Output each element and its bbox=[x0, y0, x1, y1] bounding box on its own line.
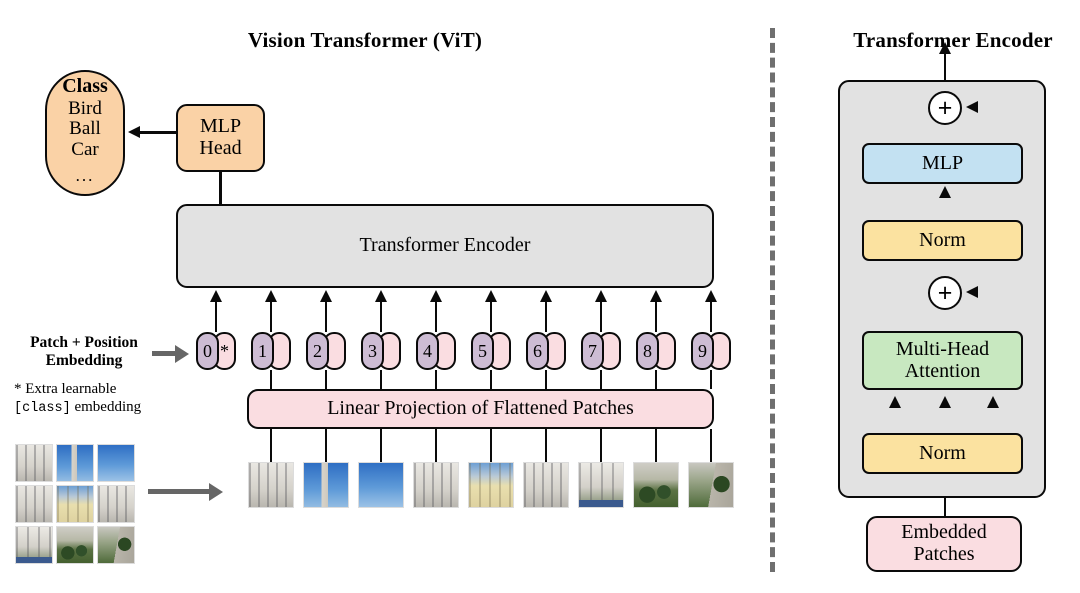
embedding-token: 3 bbox=[361, 332, 401, 370]
embedding-token: 5 bbox=[471, 332, 511, 370]
flattened-patch bbox=[523, 462, 569, 508]
patch-to-projection-line bbox=[325, 429, 328, 462]
position-embedding-token: 5 bbox=[471, 332, 494, 370]
flattened-patch bbox=[358, 462, 404, 508]
embedded-patches-line-2: Patches bbox=[913, 544, 974, 566]
patch-to-projection-line bbox=[490, 429, 493, 462]
token-to-encoder-line bbox=[435, 300, 438, 332]
projection-to-token-line bbox=[490, 370, 493, 389]
plus-symbol: + bbox=[938, 96, 953, 121]
patch-to-projection-line bbox=[435, 429, 438, 462]
mlp-head-line-2: Head bbox=[199, 138, 241, 160]
patch-to-projection-line bbox=[655, 429, 658, 462]
token-to-encoder-arrowhead bbox=[210, 290, 222, 302]
position-embedding-token: 4 bbox=[416, 332, 439, 370]
flattened-patch bbox=[413, 462, 459, 508]
class-item-ball: Ball bbox=[69, 119, 101, 140]
embedding-token: 8 bbox=[636, 332, 676, 370]
norm-bottom-label: Norm bbox=[919, 443, 966, 465]
source-patch bbox=[15, 444, 53, 482]
attention-line-2: Attention bbox=[905, 361, 981, 383]
source-patch bbox=[97, 526, 135, 564]
source-patch bbox=[97, 485, 135, 523]
class-output-pill: Class Bird Ball Car ... bbox=[45, 70, 125, 196]
embedding-token: 1 bbox=[251, 332, 291, 370]
token-to-encoder-arrowhead bbox=[705, 290, 717, 302]
right-panel-title: Transformer Encoder bbox=[828, 28, 1078, 53]
token-to-encoder-arrowhead bbox=[595, 290, 607, 302]
residual-mid-arrowhead bbox=[966, 286, 978, 298]
qkv-arrowhead-v bbox=[987, 396, 999, 408]
token-to-encoder-line bbox=[545, 300, 548, 332]
mlp-head-box: MLP Head bbox=[176, 104, 265, 172]
source-patch bbox=[15, 485, 53, 523]
flattened-patch bbox=[578, 462, 624, 508]
qkv-arrowhead-k bbox=[939, 396, 951, 408]
position-embedding-token: 6 bbox=[526, 332, 549, 370]
mlp-head-stem bbox=[219, 171, 222, 206]
position-embedding-token: 0 bbox=[196, 332, 219, 370]
position-embedding-token: 7 bbox=[581, 332, 604, 370]
projection-to-token-line bbox=[600, 370, 603, 389]
embedding-token: 9 bbox=[691, 332, 731, 370]
embedding-label-line-1: Patch + Position bbox=[8, 334, 160, 352]
token-to-encoder-arrowhead bbox=[485, 290, 497, 302]
embedding-token: 4 bbox=[416, 332, 456, 370]
transformer-encoder-block: Transformer Encoder bbox=[176, 204, 714, 288]
embedding-label-line-2: Embedding bbox=[8, 352, 160, 370]
token-to-encoder-line bbox=[380, 300, 383, 332]
position-embedding-token: 2 bbox=[306, 332, 329, 370]
position-embedding-token: 8 bbox=[636, 332, 659, 370]
qkv-arrowhead-q bbox=[889, 396, 901, 408]
source-image-grid bbox=[15, 444, 137, 566]
embedding-pointer-arrow bbox=[152, 351, 176, 356]
patch-to-projection-line bbox=[270, 429, 273, 462]
embedded-patches-block: Embedded Patches bbox=[866, 516, 1022, 572]
embedding-token: 6 bbox=[526, 332, 566, 370]
token-to-encoder-arrowhead bbox=[320, 290, 332, 302]
transformer-encoder-label: Transformer Encoder bbox=[360, 235, 531, 257]
token-to-encoder-arrowhead bbox=[375, 290, 387, 302]
token-to-encoder-line bbox=[710, 300, 713, 332]
token-to-encoder-line bbox=[325, 300, 328, 332]
token-to-encoder-line bbox=[600, 300, 603, 332]
token-to-encoder-arrowhead bbox=[430, 290, 442, 302]
multi-head-attention-block: Multi-Head Attention bbox=[862, 331, 1023, 390]
flattened-patch bbox=[248, 462, 294, 508]
projection-to-token-line bbox=[325, 370, 328, 389]
embedding-token: *0 bbox=[196, 332, 236, 370]
class-ellipsis: ... bbox=[76, 167, 95, 185]
class-label: Class bbox=[62, 76, 108, 98]
mlp-label: MLP bbox=[922, 153, 963, 175]
linear-projection-label: Linear Projection of Flattened Patches bbox=[327, 398, 634, 420]
source-patch bbox=[97, 444, 135, 482]
projection-to-token-line bbox=[710, 370, 713, 389]
footnote-line-1: * Extra learnable bbox=[14, 380, 194, 398]
footnote-line-2-tail: embedding bbox=[71, 399, 141, 415]
projection-to-token-line bbox=[655, 370, 658, 389]
token-to-encoder-line bbox=[655, 300, 658, 332]
plus-symbol: + bbox=[938, 281, 953, 306]
flattened-patch bbox=[688, 462, 734, 508]
footnote-class-token: [class] bbox=[14, 401, 71, 416]
projection-to-token-line bbox=[545, 370, 548, 389]
token-to-encoder-line bbox=[490, 300, 493, 332]
linear-projection-block: Linear Projection of Flattened Patches bbox=[247, 389, 714, 429]
figure-canvas: Vision Transformer (ViT) Transformer Enc… bbox=[0, 0, 1080, 593]
position-embedding-token: 1 bbox=[251, 332, 274, 370]
position-embedding-token: 9 bbox=[691, 332, 714, 370]
source-patch bbox=[56, 526, 94, 564]
token-to-encoder-arrowhead bbox=[540, 290, 552, 302]
residual-add-middle: + bbox=[928, 276, 962, 310]
residual-top-arrowhead bbox=[966, 101, 978, 113]
class-embedding-footnote: * Extra learnable [class] embedding bbox=[14, 380, 194, 417]
token-to-encoder-arrowhead bbox=[650, 290, 662, 302]
token-to-encoder-line bbox=[270, 300, 273, 332]
patch-to-projection-line bbox=[710, 429, 713, 462]
embedded-patches-line-1: Embedded bbox=[901, 522, 987, 544]
projection-to-token-line bbox=[435, 370, 438, 389]
left-panel-title: Vision Transformer (ViT) bbox=[218, 28, 512, 53]
mlp-head-to-class-arrowhead bbox=[128, 126, 140, 138]
embedding-token: 7 bbox=[581, 332, 621, 370]
norm-block-top: Norm bbox=[862, 220, 1023, 261]
image-to-patches-arrow bbox=[148, 489, 210, 494]
patch-to-projection-line bbox=[600, 429, 603, 462]
embedding-token: 2 bbox=[306, 332, 346, 370]
attention-line-1: Multi-Head bbox=[896, 339, 989, 361]
projection-to-token-line bbox=[380, 370, 383, 389]
mlp-block: MLP bbox=[862, 143, 1023, 184]
source-patch bbox=[56, 485, 94, 523]
class-item-bird: Bird bbox=[68, 99, 102, 120]
projection-to-token-line bbox=[270, 370, 273, 389]
norm-block-bottom: Norm bbox=[862, 433, 1023, 474]
patch-to-projection-line bbox=[380, 429, 383, 462]
token-to-encoder-line bbox=[215, 300, 218, 332]
flattened-patch bbox=[468, 462, 514, 508]
source-patch bbox=[56, 444, 94, 482]
residual-add-top: + bbox=[928, 91, 962, 125]
mlp-head-to-class-line bbox=[139, 131, 177, 134]
flattened-patch bbox=[303, 462, 349, 508]
source-patch bbox=[15, 526, 53, 564]
token-to-encoder-arrowhead bbox=[265, 290, 277, 302]
norm-top-label: Norm bbox=[919, 230, 966, 252]
panel-divider bbox=[770, 28, 775, 572]
class-item-car: Car bbox=[71, 140, 98, 161]
flattened-patch bbox=[633, 462, 679, 508]
position-embedding-token: 3 bbox=[361, 332, 384, 370]
patch-position-embedding-label: Patch + Position Embedding bbox=[8, 334, 160, 370]
mlp-head-line-1: MLP bbox=[200, 116, 241, 138]
encoder-output-arrowhead bbox=[939, 42, 951, 54]
patch-to-projection-line bbox=[545, 429, 548, 462]
norm-top-to-mlp-arrowhead bbox=[939, 186, 951, 198]
